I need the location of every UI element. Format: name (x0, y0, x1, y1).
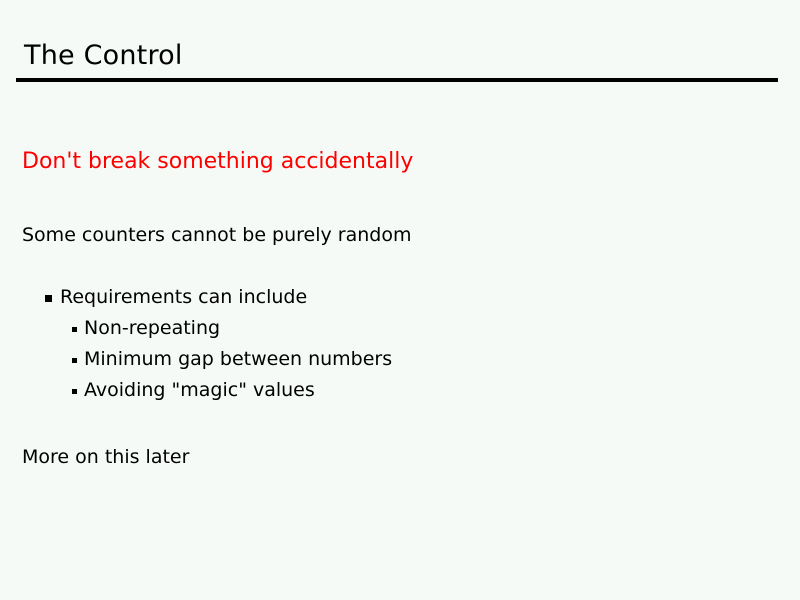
square-bullet-icon (72, 389, 77, 394)
intro-paragraph: Some counters cannot be purely random (22, 222, 411, 248)
slide: The Control Don't break something accide… (0, 0, 800, 600)
list-item: Requirements can include (0, 284, 800, 315)
outro-paragraph: More on this later (22, 444, 189, 470)
list-item-label: Avoiding "magic" values (84, 377, 315, 404)
list-item: Minimum gap between numbers (0, 346, 800, 377)
bullet-list: Requirements can include Non-repeating M… (0, 284, 800, 408)
slide-body: Don't break something accidentally Some … (0, 0, 800, 600)
square-bullet-icon (45, 295, 52, 302)
list-item-label: Requirements can include (60, 284, 307, 311)
list-item-label: Non-repeating (84, 315, 220, 342)
list-item-label: Minimum gap between numbers (84, 346, 392, 373)
square-bullet-icon (72, 358, 77, 363)
list-item: Avoiding "magic" values (0, 377, 800, 408)
list-item: Non-repeating (0, 315, 800, 346)
square-bullet-icon (72, 327, 77, 332)
lead-heading: Don't break something accidentally (22, 148, 413, 176)
